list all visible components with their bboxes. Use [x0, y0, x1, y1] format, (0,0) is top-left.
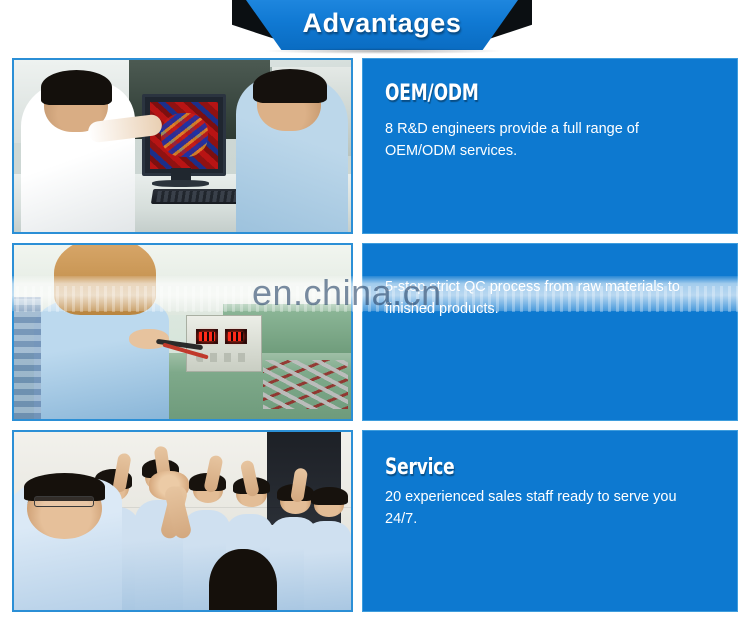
page-title: Advantages: [302, 10, 461, 40]
advantage-panel-service: Service 20 experienced sales staff ready…: [362, 430, 738, 612]
advantage-panel-quality-control: 5-step strict QC process from raw materi…: [362, 243, 738, 421]
advantage-panel-oem-odm: OEM/ODM 8 R&D engineers provide a full r…: [362, 58, 738, 234]
advantage-title: Service: [385, 455, 669, 480]
header: Advantages: [0, 0, 750, 58]
advantages-banner: Advantages: [232, 0, 532, 52]
photo-team-celebration: [12, 430, 353, 612]
scene-team: [14, 432, 351, 610]
advantage-row: OEM/ODM 8 R&D engineers provide a full r…: [0, 58, 750, 234]
advantage-row: 5-step strict QC process from raw materi…: [0, 243, 750, 421]
banner-drop-shadow: [266, 48, 502, 54]
scene-engineers: [14, 60, 351, 232]
advantage-row: Service 20 experienced sales staff ready…: [0, 430, 750, 612]
advantage-body: 5-step strict QC process from raw materi…: [385, 276, 705, 321]
advantage-body: 20 experienced sales staff ready to serv…: [385, 486, 705, 531]
advantage-body: 8 R&D engineers provide a full range of …: [385, 118, 705, 163]
photo-engineers-at-monitor: [12, 58, 353, 234]
scene-qc-bench: [14, 245, 351, 419]
advantages-list: OEM/ODM 8 R&D engineers provide a full r…: [0, 58, 750, 621]
photo-qc-testing: [12, 243, 353, 421]
banner-plate: Advantages: [246, 0, 518, 50]
advantage-title: OEM/ODM: [385, 81, 669, 106]
